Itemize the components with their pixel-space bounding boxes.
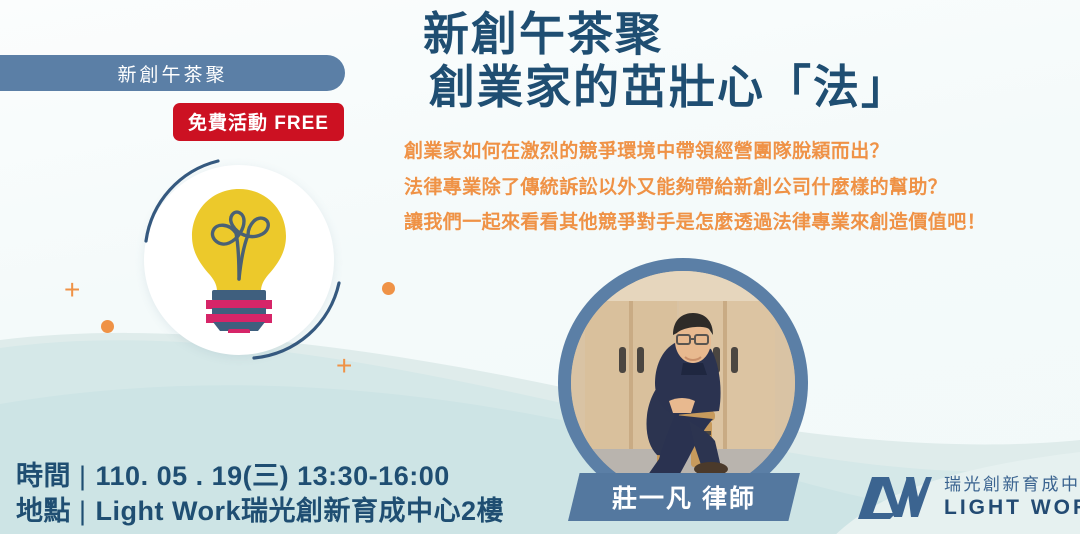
free-admission-badge: 免費活動 FREE	[173, 103, 344, 141]
event-time-value: 110. 05 . 19(三) 13:30-16:00	[96, 459, 450, 494]
headline-line-1: 新創午茶聚	[423, 8, 1055, 61]
logo-name-en: LIGHT WORK	[944, 495, 1080, 520]
event-location-value: Light Work瑞光創新育成中心2樓	[96, 494, 505, 529]
logo-wordmark: 瑞光創新育成中心 LIGHT WORK	[944, 474, 1080, 520]
event-poster: + + 新創午茶聚 免費活動 FREE	[0, 0, 1080, 540]
event-time-row: 時間 | 110. 05 . 19(三) 13:30-16:00	[16, 459, 504, 494]
event-location-row: 地點 | Light Work瑞光創新育成中心2樓	[16, 494, 504, 529]
speaker-name: 莊一凡 律師	[612, 479, 756, 515]
free-admission-label: 免費活動 FREE	[188, 108, 329, 135]
event-location-separator: |	[79, 494, 87, 529]
logo-name-cn: 瑞光創新育成中心	[944, 474, 1080, 495]
speaker-photo	[571, 271, 795, 495]
description-line-2: 法律專業除了傳統訴訟以外又能夠帶給新創公司什麼樣的幫助？	[404, 176, 1064, 201]
organizer-logo: 瑞光創新育成中心 LIGHT WORK	[856, 474, 1080, 520]
lightbulb-medallion	[134, 155, 344, 365]
decor-dot-1	[101, 320, 114, 333]
headline-line-2: 創業家的茁壯心「法」	[429, 61, 1055, 114]
event-series-banner: 新創午茶聚	[0, 55, 345, 91]
decor-dot-2	[382, 282, 395, 295]
poster-headline: 新創午茶聚 創業家的茁壯心「法」	[415, 8, 1055, 115]
speaker-portrait	[558, 258, 808, 508]
bottom-strip	[0, 534, 1080, 540]
event-time-separator: |	[79, 459, 87, 494]
speaker-name-plate: 莊一凡 律師	[568, 473, 800, 521]
event-location-label: 地點	[16, 494, 71, 529]
lw-monogram-icon	[856, 475, 932, 519]
lightbulb-icon	[186, 187, 292, 333]
description-line-3: 讓我們一起來看看其他競爭對手是怎麼透過法律專業來創造價值吧！	[404, 211, 1064, 236]
event-details: 時間 | 110. 05 . 19(三) 13:30-16:00 地點 | Li…	[16, 459, 504, 528]
description-line-1: 創業家如何在激烈的競爭環境中帶領經營團隊脫穎而出？	[404, 140, 1064, 165]
decor-plus-1: +	[64, 276, 80, 304]
event-series-label: 新創午茶聚	[117, 60, 227, 87]
poster-description: 創業家如何在激烈的競爭環境中帶領經營團隊脫穎而出？ 法律專業除了傳統訴訟以外又能…	[404, 140, 1064, 247]
event-time-label: 時間	[16, 459, 71, 494]
